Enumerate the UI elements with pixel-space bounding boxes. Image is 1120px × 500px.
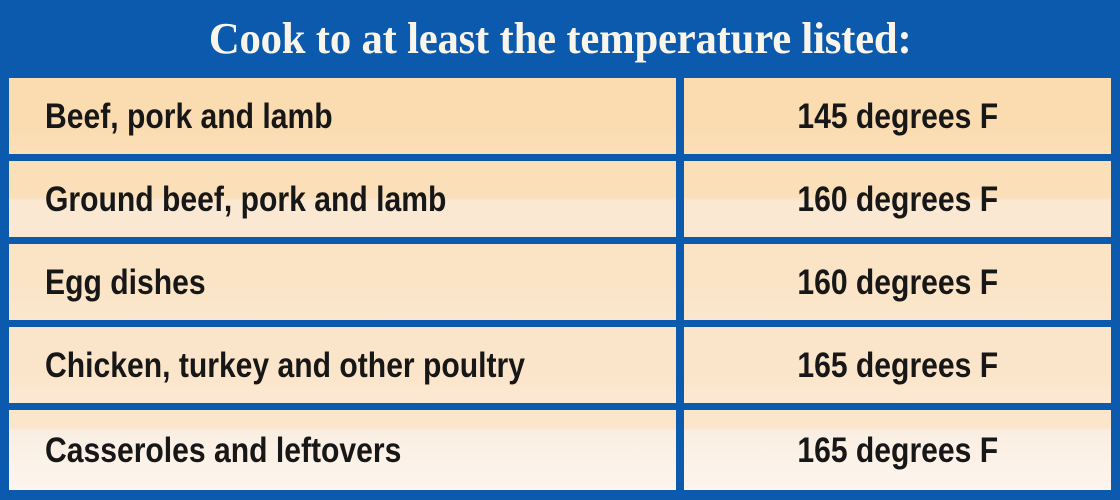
food-label: Ground beef, pork and lamb: [45, 182, 446, 217]
table-cell-temperature: 145 degrees F: [684, 78, 1111, 154]
page-title: Cook to at least the temperature listed:: [209, 17, 912, 61]
table-cell-food: Ground beef, pork and lamb: [9, 161, 684, 237]
table-cell-food: Chicken, turkey and other poultry: [9, 327, 684, 403]
temperature-value: 165 degrees F: [797, 433, 998, 468]
table-row: Casseroles and leftovers 165 degrees F: [9, 410, 1111, 490]
temperature-table: Beef, pork and lamb 145 degrees F Ground…: [0, 78, 1120, 500]
table-row: Chicken, turkey and other poultry 165 de…: [9, 327, 1111, 410]
table-cell-temperature: 165 degrees F: [684, 327, 1111, 403]
table-cell-food: Casseroles and leftovers: [9, 410, 684, 490]
table-cell-temperature: 160 degrees F: [684, 161, 1111, 237]
food-label: Casseroles and leftovers: [45, 433, 401, 468]
table-row: Ground beef, pork and lamb 160 degrees F: [9, 161, 1111, 244]
temperature-value: 145 degrees F: [797, 99, 998, 134]
food-label: Beef, pork and lamb: [45, 99, 333, 134]
food-label: Chicken, turkey and other poultry: [45, 348, 525, 383]
table-row: Egg dishes 160 degrees F: [9, 244, 1111, 327]
table-row: Beef, pork and lamb 145 degrees F: [9, 78, 1111, 161]
temperature-value: 160 degrees F: [797, 182, 998, 217]
table-cell-food: Beef, pork and lamb: [9, 78, 684, 154]
temperature-value: 165 degrees F: [797, 348, 998, 383]
food-label: Egg dishes: [45, 265, 206, 300]
table-cell-temperature: 160 degrees F: [684, 244, 1111, 320]
poster-title-bar: Cook to at least the temperature listed:: [0, 0, 1120, 78]
table-cell-food: Egg dishes: [9, 244, 684, 320]
temperature-value: 160 degrees F: [797, 265, 998, 300]
cooking-temperature-poster: Cook to at least the temperature listed:…: [0, 0, 1120, 500]
table-cell-temperature: 165 degrees F: [684, 410, 1111, 490]
